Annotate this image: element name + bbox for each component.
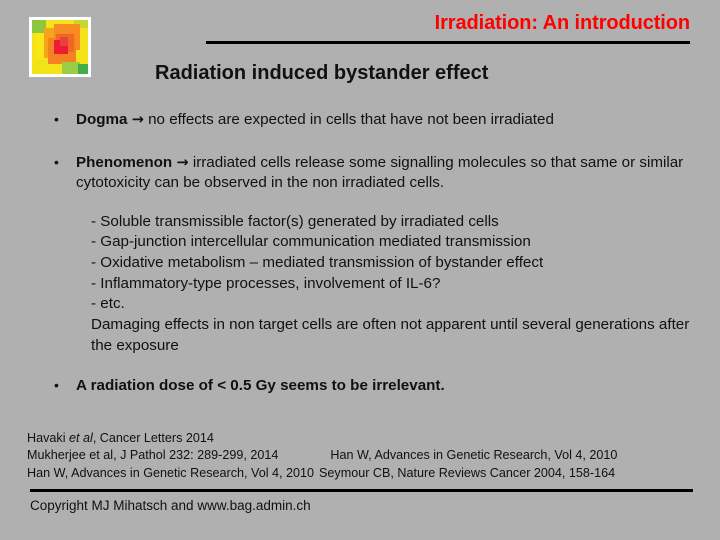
reference-line-3: Han W, Advances in Genetic Research, Vol… [27, 465, 617, 482]
bullet-marker: • [54, 110, 76, 129]
ref-et-al: et al [69, 431, 93, 445]
spacer [54, 131, 694, 153]
bullet-lead-term: Phenomenon [76, 154, 172, 171]
slide-canvas: Irradiation: An introduction Radiation i… [0, 0, 720, 540]
bullet-marker: • [54, 153, 76, 172]
spacer [54, 194, 694, 212]
arrow-icon: → [176, 155, 188, 171]
reference-line-1: Havaki et al, Cancer Letters 2014 [27, 430, 617, 447]
bullet-text: Dogma → no effects are expected in cells… [76, 110, 694, 131]
bullet-rest: no effects are expected in cells that ha… [144, 111, 554, 128]
ref-right: Han W, Advances in Genetic Research, Vol… [330, 448, 617, 462]
logo-inner [32, 20, 88, 74]
reference-line-2: Mukherjee et al, J Pathol 232: 289-299, … [27, 447, 617, 464]
logo-tile-yellow-bl [32, 60, 44, 74]
bullet-bold-text: A radiation dose of < 0.5 Gy seems to be… [76, 377, 445, 394]
arrow-icon: → [132, 112, 144, 128]
slide-body: • Dogma → no effects are expected in cel… [54, 110, 694, 397]
footer-copyright: Copyright MJ Mihatsch and www.bag.admin.… [30, 498, 311, 513]
title-divider-rule [206, 41, 690, 44]
list-item: - Oxidative metabolism – mediated transm… [91, 253, 694, 274]
footer-divider-rule [30, 489, 693, 492]
bullet-text: A radiation dose of < 0.5 Gy seems to be… [76, 376, 694, 397]
ref-left: Mukherjee et al, J Pathol 232: 289-299, … [27, 448, 278, 462]
heatmap-mosaic-logo-icon [29, 17, 91, 77]
ref-right: Seymour CB, Nature Reviews Cancer 2004, … [319, 466, 615, 480]
mechanism-sub-list: - Soluble transmissible factor(s) genera… [91, 212, 694, 315]
logo-tile-green-br [78, 64, 88, 74]
free-paragraph: Damaging effects in non target cells are… [91, 315, 691, 356]
bullet-item-dogma: • Dogma → no effects are expected in cel… [54, 110, 694, 131]
references-block: Havaki et al, Cancer Letters 2014 Mukher… [27, 430, 617, 482]
spacer [54, 356, 694, 376]
bullet-item-phenomenon: • Phenomenon → irradiated cells release … [54, 153, 694, 194]
list-item: - etc. [91, 294, 694, 315]
ref-left: Han W, Advances in Genetic Research, Vol… [27, 466, 314, 480]
bullet-item-dose: • A radiation dose of < 0.5 Gy seems to … [54, 376, 694, 397]
bullet-text: Phenomenon → irradiated cells release so… [76, 153, 694, 194]
list-item: - Soluble transmissible factor(s) genera… [91, 212, 694, 233]
list-item: - Inflammatory-type processes, involveme… [91, 274, 694, 295]
slide-subtitle: Radiation induced bystander effect [155, 62, 488, 85]
bullet-lead-term: Dogma [76, 111, 127, 128]
logo-tile-red-inner [60, 37, 68, 46]
ref-rest: , Cancer Letters 2014 [93, 431, 214, 445]
list-item: - Gap-junction intercellular communicati… [91, 232, 694, 253]
bullet-marker: • [54, 376, 76, 395]
slide-title: Irradiation: An introduction [435, 12, 690, 35]
ref-author: Havaki [27, 431, 69, 445]
